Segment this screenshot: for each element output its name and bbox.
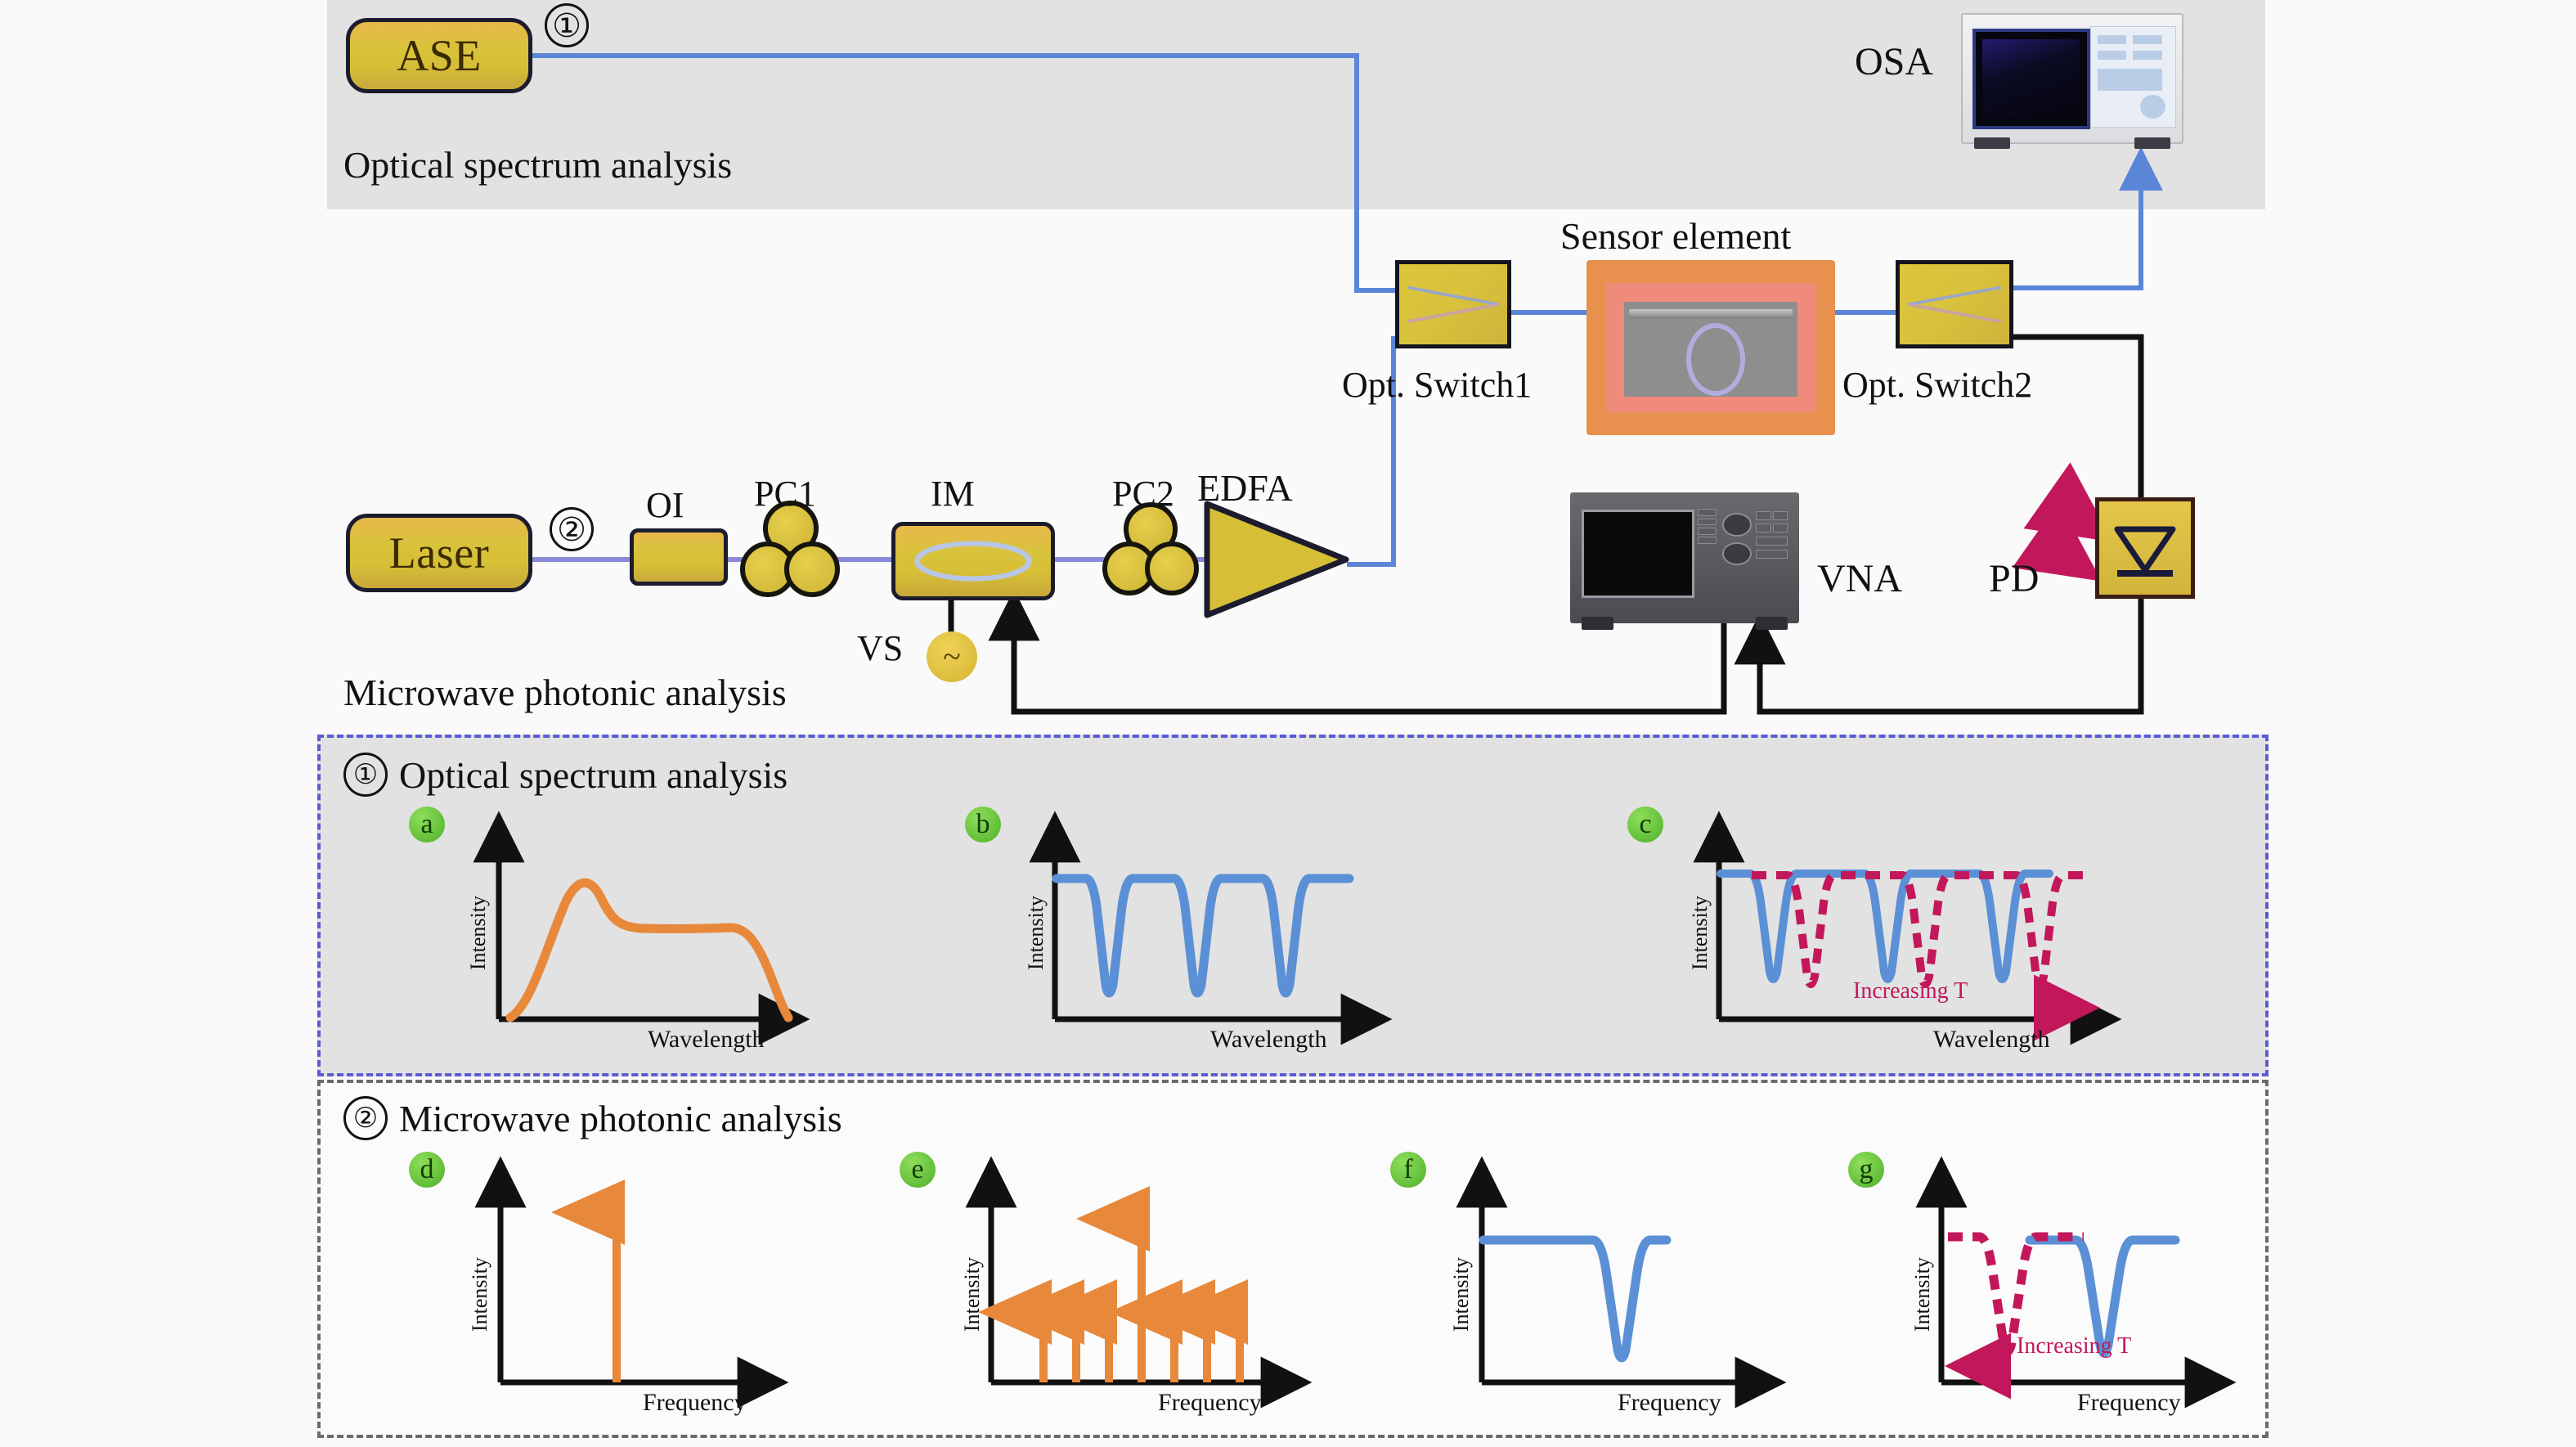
plot-f-xlabel: Frequency <box>1618 1389 1721 1417</box>
panel-1-title-text: Optical spectrum analysis <box>399 753 788 797</box>
vna-display <box>1582 510 1694 598</box>
panel-1-title: ① Optical spectrum analysis <box>343 753 788 797</box>
osa-display <box>1972 29 2090 129</box>
vna-button[interactable] <box>1698 509 1717 516</box>
plot-d-canvas <box>409 1148 818 1418</box>
osa-foot-left <box>1974 137 2010 149</box>
osa-key[interactable] <box>2098 51 2126 60</box>
osa-foot-right <box>2134 137 2170 149</box>
marker-two-bottom: ② <box>550 507 594 551</box>
switch-crossbar-icon <box>1906 274 2003 335</box>
plot-b: b Intensity Wavelength <box>965 800 1407 1055</box>
optical-switch-1[interactable] <box>1395 260 1511 348</box>
optical-spectrum-analysis-label: Optical spectrum analysis <box>343 143 732 186</box>
plot-c-canvas <box>1627 800 2134 1055</box>
pc-paddle <box>784 542 840 597</box>
im-label: IM <box>931 473 975 515</box>
ase-label: ASE <box>397 30 482 81</box>
switch-crossbar-icon <box>1406 274 1501 335</box>
osa-knob[interactable] <box>2140 95 2165 119</box>
vna-knob[interactable] <box>1722 513 1752 537</box>
vna-button[interactable] <box>1756 524 1770 533</box>
optical-switch-2[interactable] <box>1896 260 2013 348</box>
plot-c-increasing-t: Increasing T <box>1853 978 1968 1004</box>
vna-button[interactable] <box>1698 519 1717 526</box>
bus-waveguide <box>1629 309 1793 319</box>
sensor-element-label: Sensor element <box>1560 214 1791 258</box>
figure-canvas: ASE ① Optical spectrum analysis OSA Opt.… <box>0 0 2576 1447</box>
vna-button[interactable] <box>1698 537 1717 544</box>
plot-f: f Intensity Frequency <box>1390 1148 1815 1418</box>
plot-a: a Intensity Wavelength <box>409 800 834 1055</box>
panel-2-title: ② Microwave photonic analysis <box>343 1096 842 1140</box>
plot-c-xlabel: Wavelength <box>1933 1026 2050 1054</box>
osa-key[interactable] <box>2098 35 2126 44</box>
pd-label: PD <box>1989 556 2039 601</box>
marker-one-top: ① <box>545 3 589 47</box>
panel-2-title-text: Microwave photonic analysis <box>399 1097 842 1140</box>
vna-button[interactable] <box>1698 528 1717 535</box>
plot-e-canvas <box>900 1148 1341 1418</box>
photodiode-icon <box>2099 501 2191 595</box>
osa-key[interactable] <box>2098 69 2162 91</box>
plot-e-xlabel: Frequency <box>1158 1389 1262 1417</box>
polarization-controller-2[interactable] <box>1102 502 1191 591</box>
panel-1-number: ① <box>343 753 388 797</box>
plot-g-xlabel: Frequency <box>2077 1389 2181 1417</box>
vna-button[interactable] <box>1756 511 1770 520</box>
vs-label: VS <box>857 627 903 669</box>
plot-d-xlabel: Frequency <box>643 1389 747 1417</box>
osa-key[interactable] <box>2133 35 2161 44</box>
edfa-amplifier[interactable] <box>1202 499 1351 620</box>
osa-trace-area <box>1982 39 2080 119</box>
microwave-photonic-analysis-label: Microwave photonic analysis <box>343 671 787 714</box>
vna-foot-left <box>1582 617 1613 630</box>
optical-switch-2-label: Opt. Switch2 <box>1842 364 2032 406</box>
plot-a-xlabel: Wavelength <box>648 1026 765 1054</box>
plot-c: c Intensity Increasing T Wavelength <box>1627 800 2134 1055</box>
panel-2-number: ② <box>343 1096 388 1140</box>
vna-button[interactable] <box>1773 524 1788 533</box>
optical-switch-1-label: Opt. Switch1 <box>1342 364 1532 406</box>
osa-instrument[interactable] <box>1961 13 2183 144</box>
microring-resonator <box>1686 323 1746 396</box>
plot-a-canvas <box>409 800 834 1055</box>
vna-label: VNA <box>1817 556 1902 601</box>
vna-foot-right <box>1756 617 1788 630</box>
mzi-icon <box>895 526 1051 596</box>
plot-d: d Intensity Frequency <box>409 1148 818 1418</box>
intensity-modulator-box[interactable] <box>891 522 1055 600</box>
plot-g-increasing-t: Increasing T <box>2017 1333 2131 1359</box>
vna-instrument[interactable] <box>1570 492 1799 623</box>
vna-control-panel <box>1696 506 1790 597</box>
laser-label: Laser <box>389 528 489 578</box>
oi-label: OI <box>646 484 684 526</box>
pc-paddle <box>1145 542 1199 595</box>
vector-signal-source[interactable]: ~ <box>927 631 977 682</box>
pc2-label: PC2 <box>1112 473 1174 515</box>
vna-button[interactable] <box>1756 537 1788 546</box>
osa-keypad <box>2090 26 2176 128</box>
plot-f-canvas <box>1390 1148 1815 1418</box>
sensor-element[interactable] <box>1586 260 1835 435</box>
vna-knob[interactable] <box>1722 542 1752 566</box>
vna-button[interactable] <box>1756 550 1788 559</box>
plot-g: g Intensity Increasing T Frequency <box>1848 1148 2257 1418</box>
laser-box[interactable]: Laser <box>346 514 532 592</box>
plot-g-canvas <box>1848 1148 2257 1418</box>
plot-b-canvas <box>965 800 1407 1055</box>
osa-key[interactable] <box>2133 51 2161 60</box>
pc1-label: PC1 <box>754 473 816 515</box>
plot-e: e Intensity Frequency <box>900 1148 1341 1418</box>
osa-label: OSA <box>1855 39 1933 84</box>
vna-button[interactable] <box>1773 511 1788 520</box>
optical-isolator-box[interactable] <box>630 528 728 586</box>
photodetector[interactable] <box>2095 497 2195 599</box>
ase-source-box[interactable]: ASE <box>346 18 532 93</box>
amplifier-triangle-icon <box>1202 499 1351 620</box>
vs-symbol: ~ <box>943 640 961 673</box>
plot-b-xlabel: Wavelength <box>1210 1026 1327 1054</box>
edfa-label: EDFA <box>1197 466 1293 510</box>
